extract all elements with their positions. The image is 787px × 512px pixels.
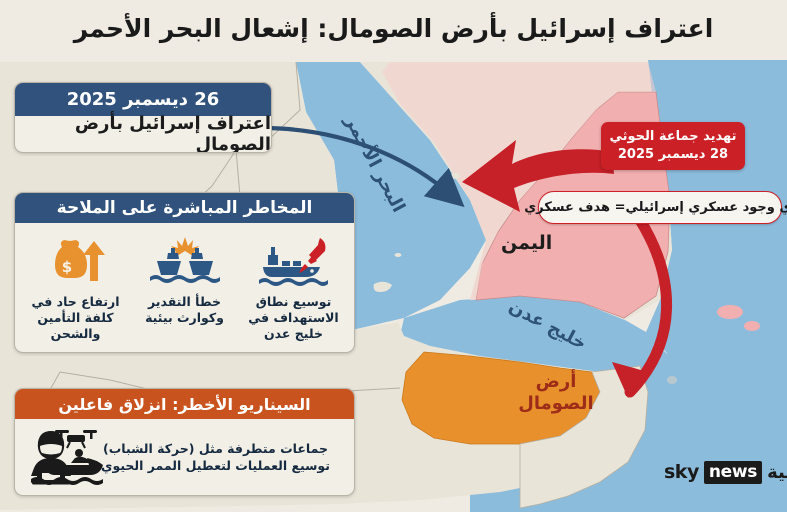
island-dot-g	[667, 376, 677, 384]
sky-news-arabia-logo: sky news عربية	[664, 461, 787, 483]
logo-news-text: news	[704, 461, 762, 484]
military-target-callout-text: أي وجود عسكري إسرائيلي= هدف عسكري	[524, 200, 787, 215]
worst-scenario-card: السيناريو الأخطر: انزلاق فاعلين جماعات م…	[14, 388, 355, 496]
houthi-threat-date: 28 ديسمبر 2025	[607, 146, 739, 164]
logo-arabic-text: عربية	[767, 462, 787, 483]
risks-grid: $ ارتفاع حاد في كلفة التأمين والشحن	[15, 223, 354, 352]
ship-collision-icon	[148, 233, 222, 287]
ship-missile-icon	[258, 233, 330, 287]
island-dot-f	[744, 321, 760, 331]
money-bag-up-arrow-icon: $	[44, 233, 108, 287]
risks-card-header: المخاطر المباشرة على الملاحة	[15, 193, 354, 223]
risk-item-label: خطأ التقدير وكوارث بيئية	[130, 294, 239, 326]
map-label-yemen: اليمن	[501, 232, 552, 254]
island-dot-a	[450, 173, 460, 179]
risk-item-insurance-cost: $ ارتفاع حاد في كلفة التأمين والشحن	[21, 233, 130, 342]
houthi-threat-title: تهديد جماعة الحوثي	[607, 128, 739, 146]
scenario-card-text: جماعات متطرفة مثل (حركة الشباب) توسيع ال…	[85, 440, 346, 475]
logo-sky-text: sky	[664, 461, 699, 483]
scenario-card-header: السيناريو الأخطر: انزلاق فاعلين	[15, 389, 354, 419]
date-card-date: 26 ديسمبر 2025	[67, 89, 220, 110]
date-card-event: اعتراف إسرائيل بأرض الصومال	[15, 113, 271, 153]
navigation-risks-card: المخاطر المباشرة على الملاحة $ ارتفاع حا…	[14, 192, 355, 353]
date-event-card: 26 ديسمبر 2025 اعتراف إسرائيل بأرض الصوم…	[14, 82, 272, 153]
page-title: اعتراف إسرائيل بأرض الصومال: إشعال البحر…	[74, 14, 714, 43]
risk-item-label: ارتفاع حاد في كلفة التأمين والشحن	[21, 294, 130, 342]
infographic-canvas: اعتراف إسرائيل بأرض الصومال: إشعال البحر…	[0, 0, 787, 512]
military-target-callout: أي وجود عسكري إسرائيلي= هدف عسكري	[538, 191, 782, 224]
risk-item-label: توسيع نطاق الاستهداف في خليج عدن	[239, 294, 348, 342]
map-label-somaliland: أرض الصومال	[510, 371, 602, 414]
page-title-bar: اعتراف إسرائيل بأرض الصومال: إشعال البحر…	[0, 0, 787, 56]
scenario-card-title: السيناريو الأخطر: انزلاق فاعلين	[58, 395, 310, 414]
scenario-card-body: جماعات متطرفة مثل (حركة الشباب) توسيع ال…	[15, 419, 354, 495]
risk-item-targeting: توسيع نطاق الاستهداف في خليج عدن	[239, 233, 348, 342]
island-dot-e	[717, 305, 743, 319]
date-card-body: اعتراف إسرائيل بأرض الصومال	[15, 116, 271, 152]
island-dot-b	[438, 194, 446, 199]
risk-item-collision: خطأ التقدير وكوارث بيئية	[130, 233, 239, 326]
houthi-threat-box: تهديد جماعة الحوثي 28 ديسمبر 2025	[601, 122, 745, 170]
risks-card-title: المخاطر المباشرة على الملاحة	[57, 198, 313, 218]
date-card-header: 26 ديسمبر 2025	[15, 83, 271, 116]
svg-text:$: $	[61, 258, 71, 276]
island-dot-c	[395, 253, 402, 257]
hacker-icon	[23, 428, 79, 486]
